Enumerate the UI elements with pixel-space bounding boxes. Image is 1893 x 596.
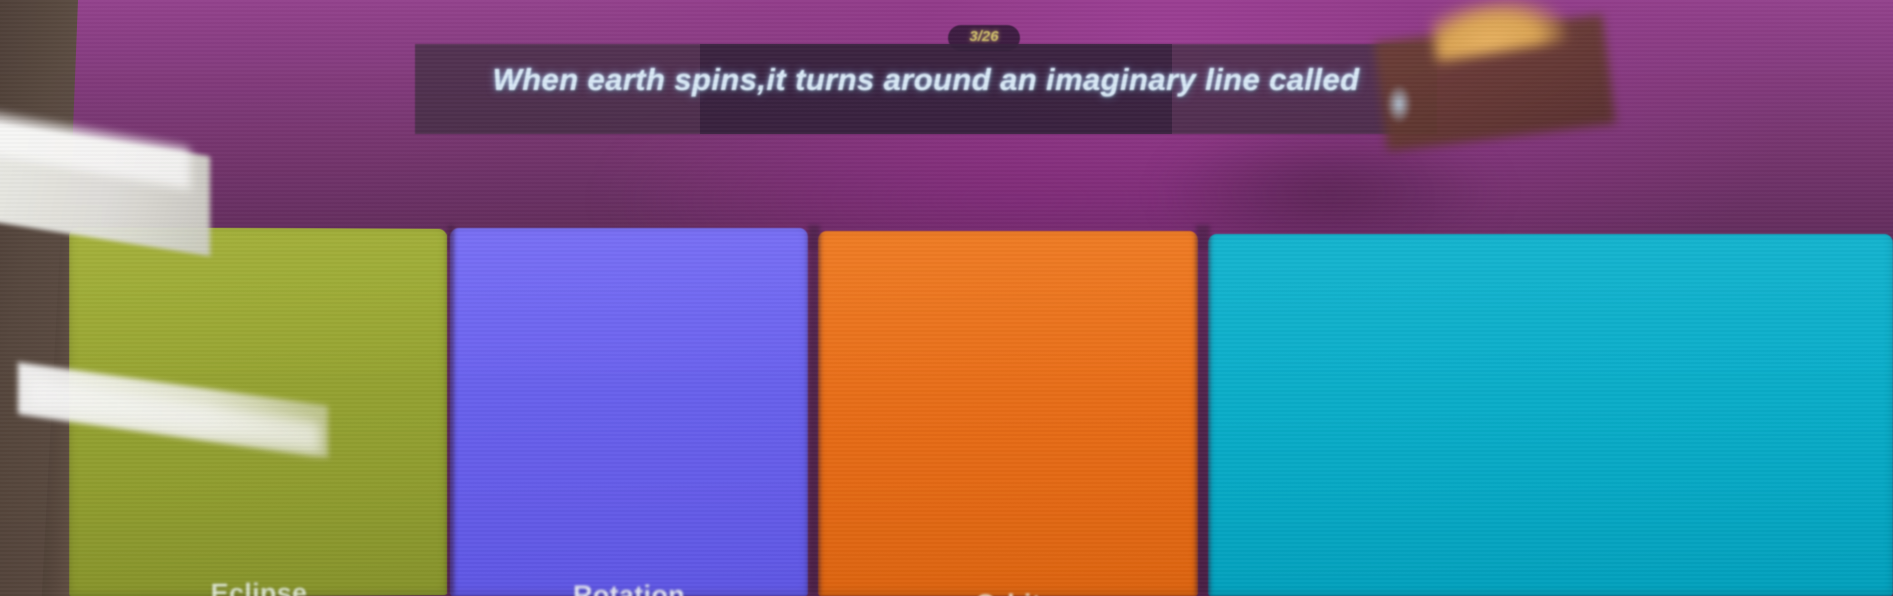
card-gap — [1196, 225, 1210, 596]
answer-option-rotation[interactable]: Rotation — [450, 228, 808, 596]
answer-option-label: Orbit — [818, 589, 1198, 596]
answer-option-label: Eclipse — [69, 577, 447, 596]
person-highlight — [1386, 84, 1412, 124]
card-gap — [448, 225, 454, 596]
answer-option-axis[interactable]: Axis — [1208, 234, 1893, 596]
answer-option-label: Rotation — [450, 580, 808, 596]
card-gap — [808, 225, 820, 596]
quiz-screen-photo: 3/26 When earth spins,it turns around an… — [0, 0, 1893, 596]
answer-option-orbit[interactable]: Orbit — [818, 231, 1198, 596]
